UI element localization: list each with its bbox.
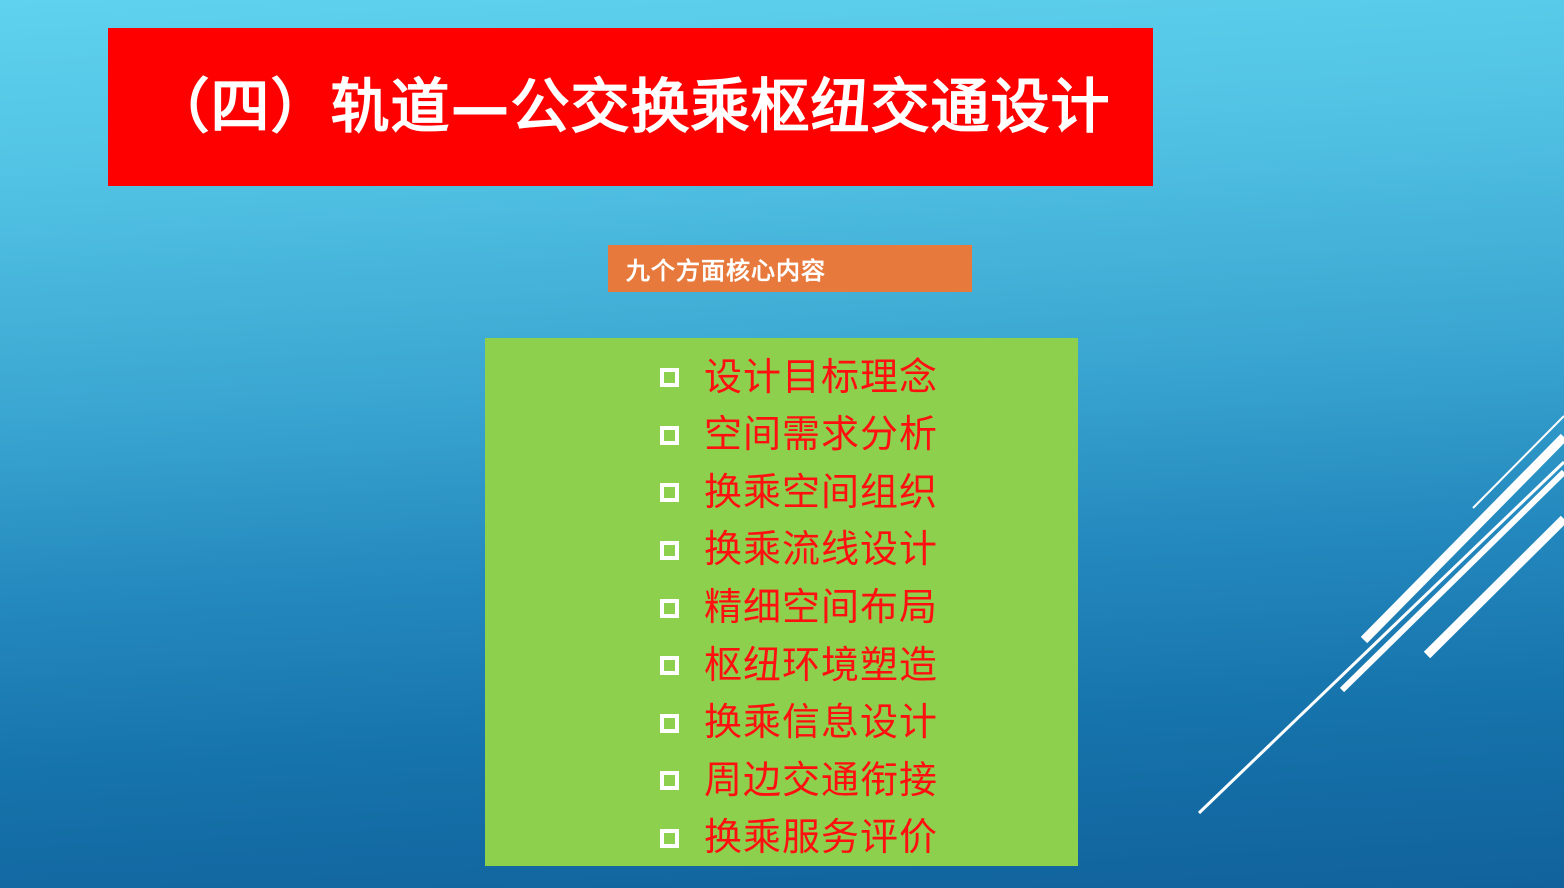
- content-box: 设计目标理念空间需求分析换乘空间组织换乘流线设计精细空间布局枢纽环境塑造换乘信息…: [485, 338, 1078, 866]
- list-item[interactable]: 枢纽环境塑造: [485, 636, 1078, 694]
- list-item-label: 空间需求分析: [704, 415, 938, 453]
- list-item-label: 枢纽环境塑造: [704, 646, 938, 684]
- list-item-label: 换乘信息设计: [704, 703, 938, 741]
- hollow-square-bullet-icon: [660, 368, 679, 387]
- list-item-label: 精细空间布局: [704, 588, 938, 626]
- decor-line-1: [1473, 416, 1564, 508]
- hollow-square-bullet-icon: [660, 483, 679, 502]
- hollow-square-bullet-icon: [660, 656, 679, 675]
- list-item[interactable]: 空间需求分析: [485, 406, 1078, 464]
- hollow-square-bullet-icon: [660, 771, 679, 790]
- list-item-label: 换乘空间组织: [704, 473, 938, 511]
- hollow-square-bullet-icon: [660, 829, 679, 848]
- list-item[interactable]: 换乘流线设计: [485, 521, 1078, 579]
- hollow-square-bullet-icon: [660, 426, 679, 445]
- decor-line-2: [1364, 437, 1564, 640]
- subheader-label: 九个方面核心内容: [626, 251, 826, 286]
- list-item[interactable]: 周边交通衔接: [485, 751, 1078, 809]
- hollow-square-bullet-icon: [660, 599, 679, 618]
- hollow-square-bullet-icon: [660, 714, 679, 733]
- list-item[interactable]: 换乘信息设计: [485, 693, 1078, 751]
- list-item[interactable]: 设计目标理念: [485, 348, 1078, 406]
- decor-line-5: [1427, 519, 1564, 655]
- list-item-label: 周边交通衔接: [704, 761, 938, 799]
- hollow-square-bullet-icon: [660, 541, 679, 560]
- list-item[interactable]: 换乘服务评价: [485, 809, 1078, 867]
- page-title: （四）轨道—公交换乘枢纽交通设计: [150, 76, 1110, 138]
- list-item-label: 换乘流线设计: [704, 530, 938, 568]
- decor-line-4: [1342, 472, 1564, 690]
- slide-canvas: （四）轨道—公交换乘枢纽交通设计 九个方面核心内容 设计目标理念空间需求分析换乘…: [0, 0, 1564, 888]
- list-item[interactable]: 换乘空间组织: [485, 463, 1078, 521]
- decor-line-3: [1199, 462, 1564, 813]
- list-item-label: 设计目标理念: [704, 358, 938, 396]
- list-item-label: 换乘服务评价: [704, 818, 938, 856]
- list-item[interactable]: 精细空间布局: [485, 578, 1078, 636]
- subheader-band: 九个方面核心内容: [608, 245, 972, 292]
- title-band: （四）轨道—公交换乘枢纽交通设计: [108, 28, 1153, 186]
